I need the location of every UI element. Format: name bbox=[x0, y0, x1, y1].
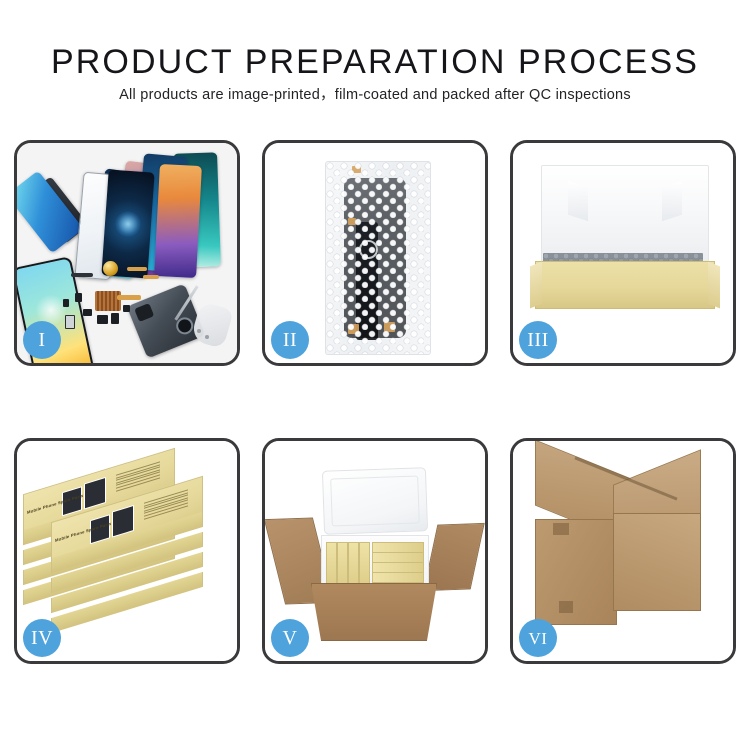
chip-4 bbox=[111, 313, 119, 324]
lid-flap-right bbox=[662, 181, 682, 221]
carton-left-face bbox=[535, 519, 617, 625]
step-panel-6[interactable]: VI bbox=[510, 438, 736, 664]
carton-front bbox=[311, 583, 437, 641]
screw-1 bbox=[197, 329, 201, 333]
kraft-box-v-2 bbox=[337, 542, 348, 588]
speaker-part bbox=[103, 261, 118, 276]
phone-gold bbox=[154, 164, 202, 278]
step-panel-1[interactable]: I bbox=[14, 140, 240, 366]
chip-2 bbox=[83, 309, 92, 316]
chip-1 bbox=[75, 293, 82, 302]
part-strip-1 bbox=[71, 273, 93, 277]
kraft-box-v-3 bbox=[348, 542, 359, 588]
carton-right-face bbox=[613, 513, 701, 611]
box-stack: Mobile Phone Spare Parts bbox=[23, 467, 235, 647]
step-badge-1: I bbox=[23, 321, 61, 359]
box-text-block bbox=[144, 489, 188, 521]
chip-6 bbox=[63, 299, 69, 307]
step-panel-2[interactable]: II bbox=[262, 140, 488, 366]
flex-cable-2 bbox=[143, 275, 159, 279]
flex-cable-1 bbox=[127, 267, 147, 271]
lid-flap-left bbox=[568, 181, 588, 221]
chip-7 bbox=[123, 305, 130, 312]
bubble-texture bbox=[326, 162, 430, 354]
chip-3 bbox=[97, 315, 108, 324]
box-tray-cream bbox=[535, 261, 715, 309]
screw-2 bbox=[205, 335, 209, 339]
box-text-block bbox=[116, 461, 160, 493]
kraft-box-v-1 bbox=[326, 542, 337, 588]
step-badge-6: VI bbox=[519, 619, 557, 657]
step-badge-4: IV bbox=[23, 619, 61, 657]
copper-mesh-part bbox=[95, 291, 121, 311]
kraft-box-h-4 bbox=[372, 572, 424, 583]
grid-row-2: Mobile Phone Spare Parts bbox=[14, 438, 736, 664]
step-panel-4[interactable]: Mobile Phone Spare Parts bbox=[14, 438, 240, 664]
process-step-grid: I II bbox=[14, 140, 736, 664]
step-panel-5[interactable]: V bbox=[262, 438, 488, 664]
grid-row-1: I II bbox=[14, 140, 736, 366]
chip-5 bbox=[65, 315, 75, 329]
step-badge-2: II bbox=[271, 321, 309, 359]
carton-tape-top bbox=[553, 523, 569, 535]
infographic-page: PRODUCT PREPARATION PROCESS All products… bbox=[0, 0, 750, 750]
page-title: PRODUCT PREPARATION PROCESS bbox=[0, 45, 750, 79]
step-badge-3: III bbox=[519, 321, 557, 359]
step-badge-5: V bbox=[271, 619, 309, 657]
page-subtitle: All products are image-printed，film-coat… bbox=[0, 88, 750, 104]
carton-tape-bottom bbox=[559, 601, 573, 613]
kraft-box-v-4 bbox=[359, 542, 370, 588]
flex-cable-3 bbox=[117, 295, 141, 300]
foam-lid bbox=[322, 467, 428, 535]
step-panel-3[interactable]: III bbox=[510, 140, 736, 366]
bubble-wrap-bag bbox=[325, 161, 431, 355]
